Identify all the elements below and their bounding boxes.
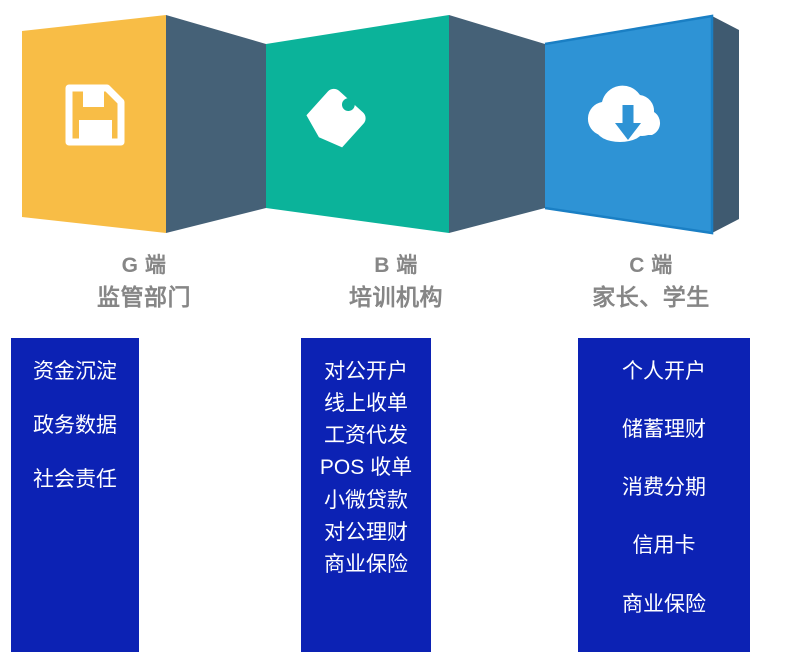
service-item: 工资代发 — [324, 424, 408, 448]
panel-ribbon — [0, 0, 792, 245]
column-headers: G 端 监管部门 B 端 培训机构 C 端 家长、学生 — [0, 252, 792, 330]
service-item: POS 收单 — [320, 456, 412, 480]
connector-face-g-b — [166, 15, 266, 233]
service-item: 对公开户 — [324, 360, 408, 384]
service-item: 政务数据 — [33, 414, 117, 438]
service-item: 对公理财 — [324, 521, 408, 545]
service-item: 线上收单 — [324, 392, 408, 416]
column-title-b: B 端 — [272, 252, 520, 279]
column-subtitle-c: 家长、学生 — [520, 283, 782, 313]
service-item: 储蓄理财 — [622, 418, 706, 442]
infographic-canvas: G 端 监管部门 B 端 培训机构 C 端 家长、学生 资金沉淀 政务数据 社会… — [0, 0, 792, 668]
column-header-g: G 端 监管部门 — [10, 252, 278, 313]
service-boxes: 资金沉淀 政务数据 社会责任 对公开户 线上收单 工资代发 POS 收单 小微贷… — [0, 338, 792, 654]
service-box-b: 对公开户 线上收单 工资代发 POS 收单 小微贷款 对公理财 商业保险 — [301, 338, 431, 652]
connector-face-c-right — [712, 16, 739, 233]
service-item: 商业保险 — [622, 593, 706, 617]
service-box-g: 资金沉淀 政务数据 社会责任 — [11, 338, 139, 652]
service-item: 个人开户 — [622, 360, 706, 384]
service-item: 资金沉淀 — [33, 360, 117, 384]
column-title-g: G 端 — [10, 252, 278, 279]
column-subtitle-b: 培训机构 — [272, 283, 520, 313]
column-header-b: B 端 培训机构 — [272, 252, 520, 313]
service-box-c: 个人开户 储蓄理财 消费分期 信用卡 商业保险 — [578, 338, 750, 652]
column-subtitle-g: 监管部门 — [10, 283, 278, 313]
service-item: 小微贷款 — [324, 489, 408, 513]
service-item: 信用卡 — [633, 534, 696, 558]
column-header-c: C 端 家长、学生 — [520, 252, 782, 313]
service-item: 商业保险 — [324, 553, 408, 577]
connector-face-b-c — [449, 15, 545, 233]
column-title-c: C 端 — [520, 252, 782, 279]
service-item: 消费分期 — [622, 476, 706, 500]
service-item: 社会责任 — [33, 468, 117, 492]
